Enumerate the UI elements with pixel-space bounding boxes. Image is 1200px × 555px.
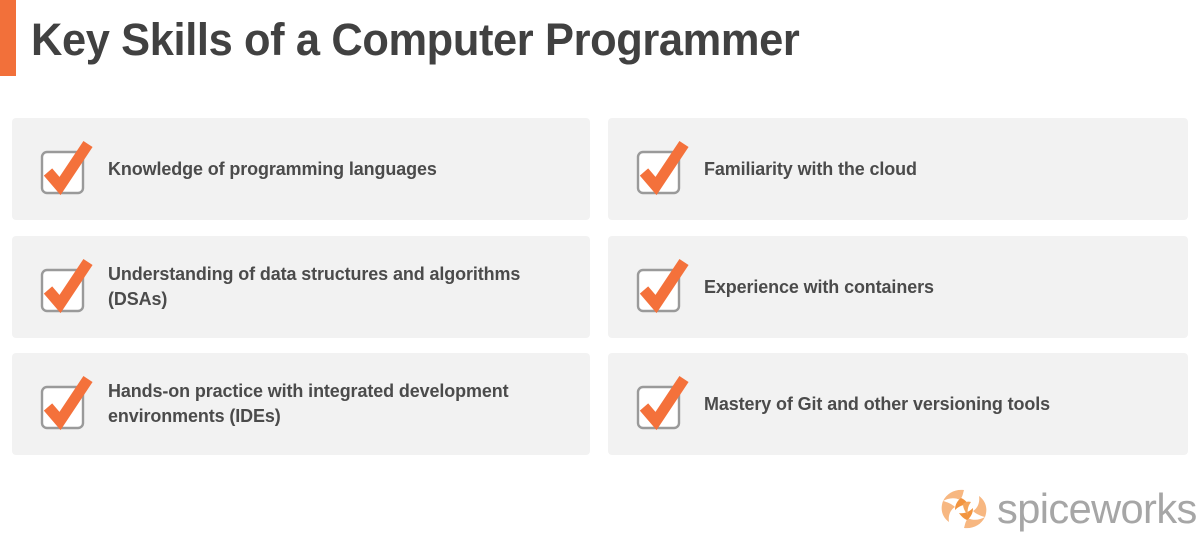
checkbox-checked-icon — [38, 141, 94, 197]
skill-label: Understanding of data structures and alg… — [108, 262, 576, 312]
checkbox-checked-icon — [634, 141, 690, 197]
checkbox-checked-icon — [634, 376, 690, 432]
skill-label: Hands-on practice with integrated develo… — [108, 379, 576, 429]
spiceworks-pinwheel-icon — [938, 484, 990, 534]
accent-bar — [0, 0, 16, 76]
skill-card[interactable]: Knowledge of programming languages — [12, 118, 590, 220]
skill-label: Experience with containers — [704, 275, 1173, 300]
checkbox-checked-icon — [38, 376, 94, 432]
skill-label: Mastery of Git and other versioning tool… — [704, 392, 1173, 417]
brand-wordmark: spiceworks — [997, 488, 1197, 530]
skills-grid: Knowledge of programming languages Famil… — [12, 118, 1188, 458]
skills-row: Understanding of data structures and alg… — [12, 236, 1188, 338]
page-title: Key Skills of a Computer Programmer — [31, 17, 799, 62]
skills-row: Knowledge of programming languages Famil… — [12, 118, 1188, 220]
skills-row: Hands-on practice with integrated develo… — [12, 353, 1188, 455]
skill-card[interactable]: Hands-on practice with integrated develo… — [12, 353, 590, 455]
skill-card[interactable]: Understanding of data structures and alg… — [12, 236, 590, 338]
skill-label: Familiarity with the cloud — [704, 157, 1173, 182]
skill-card[interactable]: Experience with containers — [608, 236, 1188, 338]
skill-card[interactable]: Mastery of Git and other versioning tool… — [608, 353, 1188, 455]
checkbox-checked-icon — [38, 259, 94, 315]
brand-logo[interactable]: spiceworks — [938, 480, 1190, 538]
page-header: Key Skills of a Computer Programmer — [0, 0, 1200, 100]
skill-card[interactable]: Familiarity with the cloud — [608, 118, 1188, 220]
checkbox-checked-icon — [634, 259, 690, 315]
skill-label: Knowledge of programming languages — [108, 157, 576, 182]
